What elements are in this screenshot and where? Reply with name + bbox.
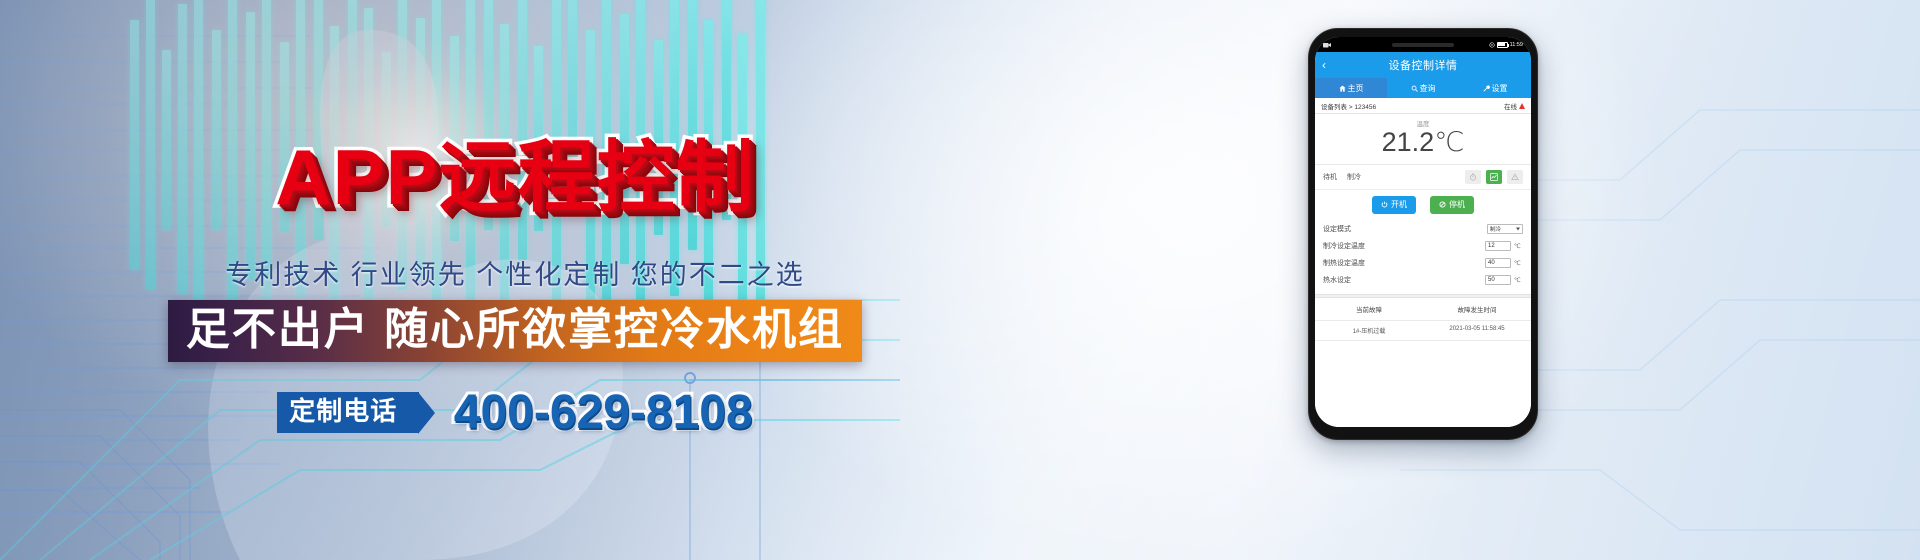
setting-mode-label: 设定模式	[1323, 224, 1351, 234]
mode-select[interactable]: 制冷	[1487, 224, 1523, 234]
setting-cool-label: 制冷设定温度	[1323, 241, 1365, 251]
timer-icon	[1469, 173, 1477, 181]
setting-row-hot-water: 热水设定 50 ℃	[1323, 272, 1523, 289]
tab-settings[interactable]: 设置	[1459, 78, 1531, 98]
promo-banner: APP远程控制 专利技术 行业领先 个性化定制 您的不二之选 足不出户 随心所欲…	[0, 0, 1920, 560]
setting-row-cool-temp: 制冷设定温度 12 ℃	[1323, 238, 1523, 255]
chart-icon-button[interactable]	[1486, 170, 1502, 184]
status-left-icons	[1323, 42, 1331, 48]
wrench-icon	[1483, 85, 1490, 92]
tab-query-label: 查询	[1420, 83, 1436, 94]
power-off-label: 停机	[1449, 199, 1465, 210]
quick-icon-buttons	[1465, 170, 1523, 184]
status-right-icons: 11:59	[1489, 42, 1523, 48]
alarm-icon	[1511, 173, 1519, 181]
hero-copy: APP远程控制 专利技术 行业领先 个性化定制 您的不二之选 足不出户 随心所欲…	[0, 0, 1030, 560]
chevron-left-icon[interactable]: ‹	[1322, 59, 1326, 71]
cool-temp-unit: ℃	[1514, 243, 1523, 250]
hero-strip-wrap: 足不出户 随心所欲掌控冷水机组	[0, 300, 1030, 362]
setting-heat-label: 制热设定温度	[1323, 258, 1365, 268]
setting-row-mode: 设定模式 制冷	[1323, 221, 1523, 238]
tel-label-tag: 定制电话	[277, 392, 419, 433]
device-state-label: 待机	[1323, 172, 1337, 182]
table-row[interactable]: 1#-压机过载 2021-03-05 11:58:45	[1315, 320, 1531, 341]
power-on-label: 开机	[1391, 199, 1407, 210]
power-off-button[interactable]: 停机	[1430, 196, 1474, 214]
status-time: 11:59	[1510, 42, 1523, 48]
power-on-button[interactable]: 开机	[1372, 196, 1416, 214]
setting-mode-control: 制冷	[1487, 224, 1523, 234]
app-header: ‹ 设备控制详情	[1315, 52, 1531, 78]
chart-icon	[1490, 173, 1498, 181]
alarm-icon-button[interactable]	[1507, 170, 1523, 184]
hero-strip: 足不出户 随心所欲掌控冷水机组	[168, 300, 862, 362]
tab-home-label: 主页	[1348, 83, 1364, 94]
location-icon	[1489, 42, 1495, 48]
mode-row: 待机 制冷	[1315, 165, 1531, 190]
hot-water-input[interactable]: 50	[1485, 275, 1511, 285]
tab-query[interactable]: 查询	[1387, 78, 1459, 98]
action-buttons: 开机 停机	[1315, 190, 1531, 221]
power-icon	[1381, 201, 1388, 208]
table-empty-space	[1315, 341, 1531, 427]
fault-col-time: 故障发生时间	[1423, 304, 1531, 314]
settings-list: 设定模式 制冷 制冷设定温度 12 ℃ 制	[1315, 221, 1531, 294]
phone-status-bar: 11:59	[1315, 37, 1531, 52]
breadcrumb-path[interactable]: 设备列表 > 123456	[1321, 101, 1376, 111]
app-title: 设备控制详情	[1389, 57, 1458, 73]
timer-icon-button[interactable]	[1465, 170, 1481, 184]
warning-triangle-icon	[1519, 103, 1525, 109]
home-icon	[1339, 85, 1346, 92]
tab-home[interactable]: 主页	[1315, 78, 1387, 98]
hero-tel-row: 定制电话 400-629-8108	[0, 385, 1030, 440]
camera-icon	[1323, 42, 1331, 48]
fault-time: 2021-03-05 11:58:45	[1423, 326, 1531, 335]
setting-heat-control: 40 ℃	[1485, 258, 1523, 268]
setting-water-label: 热水设定	[1323, 275, 1351, 285]
setting-cool-control: 12 ℃	[1485, 241, 1523, 251]
hot-water-unit: ℃	[1514, 277, 1523, 284]
device-mode-label: 制冷	[1347, 172, 1361, 182]
cool-temp-input[interactable]: 12	[1485, 241, 1511, 251]
fault-table-header: 当前故障 故障发生时间	[1315, 298, 1531, 320]
setting-row-heat-temp: 制热设定温度 40 ℃	[1323, 255, 1523, 272]
online-status: 在线	[1504, 101, 1525, 111]
phone-notch	[1392, 43, 1454, 47]
temperature-block: 温度 21.2℃	[1315, 114, 1531, 165]
setting-water-control: 50 ℃	[1485, 275, 1523, 285]
battery-icon	[1497, 42, 1508, 48]
hero-title: APP远程控制	[0, 138, 1030, 216]
tab-settings-label: 设置	[1492, 83, 1508, 94]
mode-select-value: 制冷	[1490, 225, 1501, 233]
fault-col-current: 当前故障	[1315, 304, 1423, 314]
heat-temp-input[interactable]: 40	[1485, 258, 1511, 268]
fault-name: 1#-压机过载	[1315, 326, 1423, 335]
temperature-value: 21.2℃	[1315, 128, 1531, 158]
tel-number[interactable]: 400-629-8108	[454, 385, 753, 440]
hero-subtitle: 专利技术 行业领先 个性化定制 您的不二之选	[0, 253, 1030, 292]
breadcrumb: 设备列表 > 123456 在线	[1315, 98, 1531, 114]
chevron-down-icon	[1516, 228, 1520, 231]
heat-temp-unit: ℃	[1514, 260, 1523, 267]
app-tab-bar: 主页 查询 设置	[1315, 78, 1531, 98]
online-status-label: 在线	[1504, 101, 1517, 111]
search-icon	[1411, 85, 1418, 92]
phone-mockup: 11:59 ‹ 设备控制详情 主页 查询 设置	[1308, 28, 1538, 440]
stop-icon	[1439, 201, 1446, 208]
phone-screen: 11:59 ‹ 设备控制详情 主页 查询 设置	[1315, 37, 1531, 427]
